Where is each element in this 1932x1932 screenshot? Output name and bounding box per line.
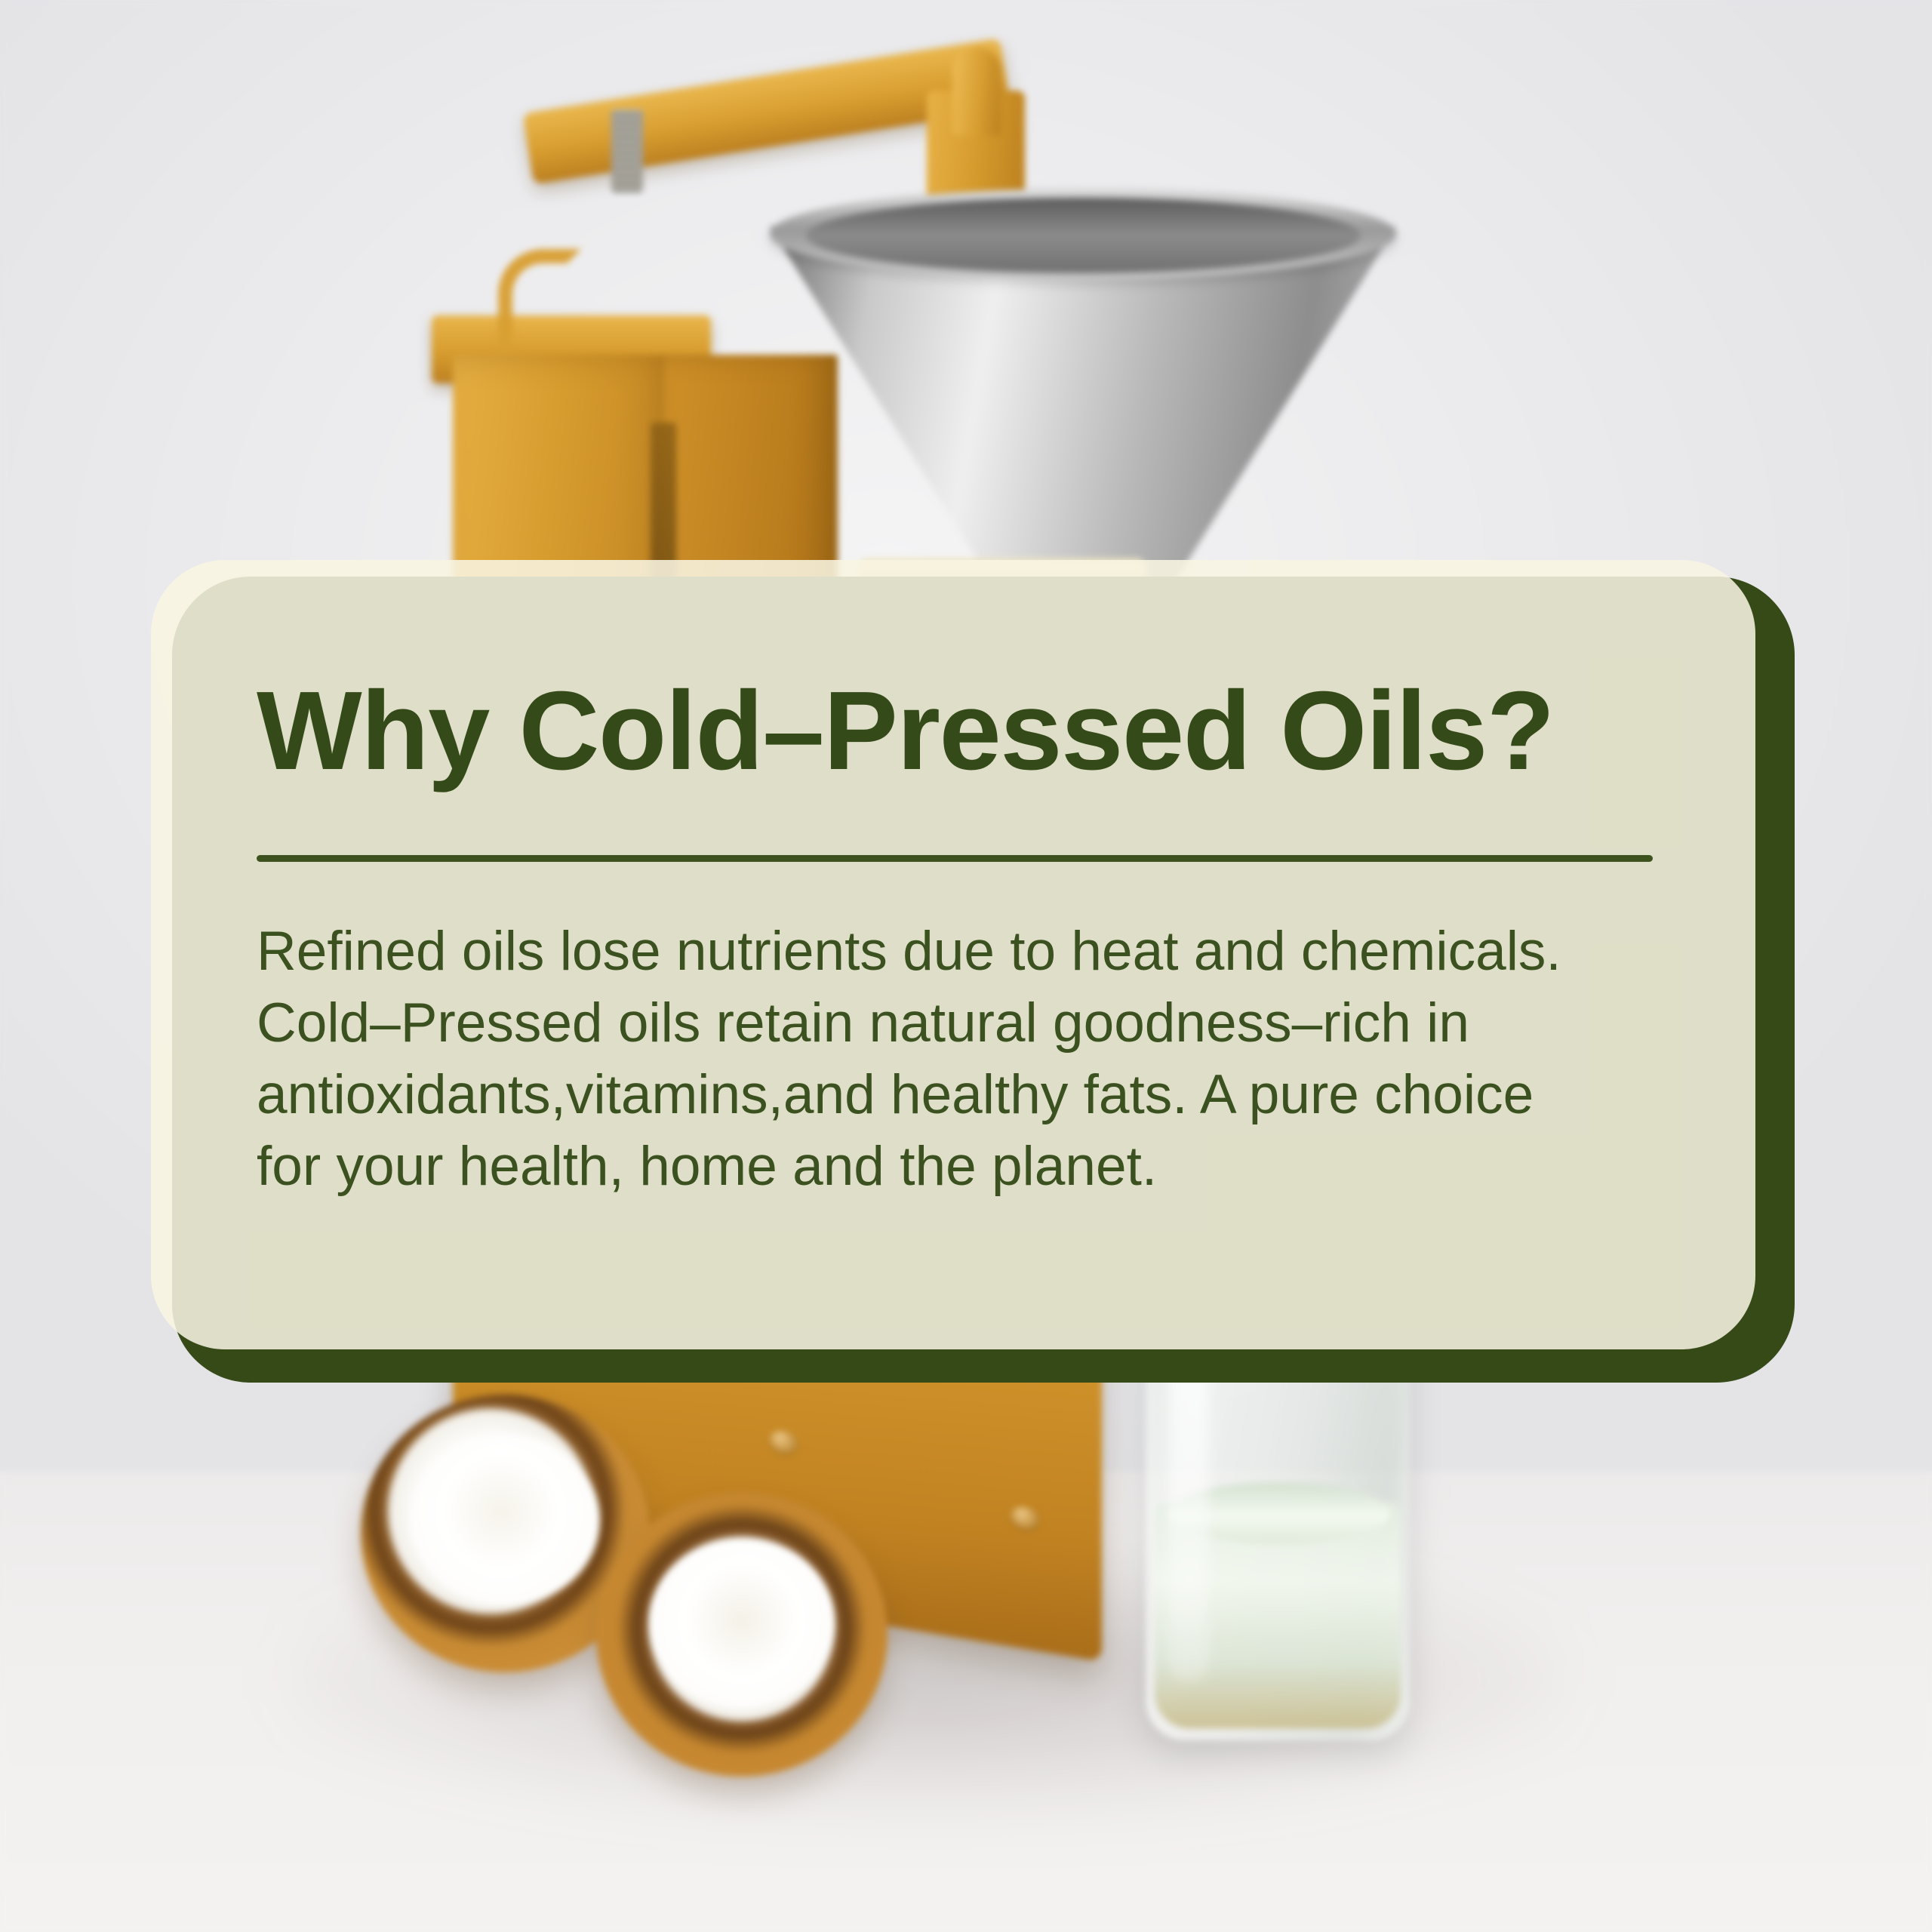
card-body-text: Refined oils lose nutrients due to heat … (257, 916, 1650, 1203)
press-knob (952, 47, 1001, 136)
coconut-half-right (596, 1493, 888, 1777)
metal-hopper-inner (806, 198, 1361, 273)
body-line-3: antioxidants,vitamins,and healthy fats. … (257, 1060, 1650, 1131)
page-title: Why Cold–Pressed Oils? (257, 675, 1650, 789)
info-card: Why Cold–Pressed Oils? Refined oils lose… (151, 560, 1781, 1383)
title-divider (257, 855, 1653, 862)
body-line-2: Cold–Pressed oils retain natural goodnes… (257, 988, 1650, 1060)
body-line-1: Refined oils lose nutrients due to heat … (257, 916, 1650, 988)
press-screw (611, 109, 643, 192)
plank-dot (770, 1429, 797, 1454)
card-surface: Why Cold–Pressed Oils? Refined oils lose… (151, 560, 1755, 1349)
body-line-4: for your health, home and the planet. (257, 1131, 1650, 1203)
poster-canvas: Why Cold–Pressed Oils? Refined oils lose… (0, 0, 1932, 1932)
plank-dot (1011, 1505, 1038, 1531)
